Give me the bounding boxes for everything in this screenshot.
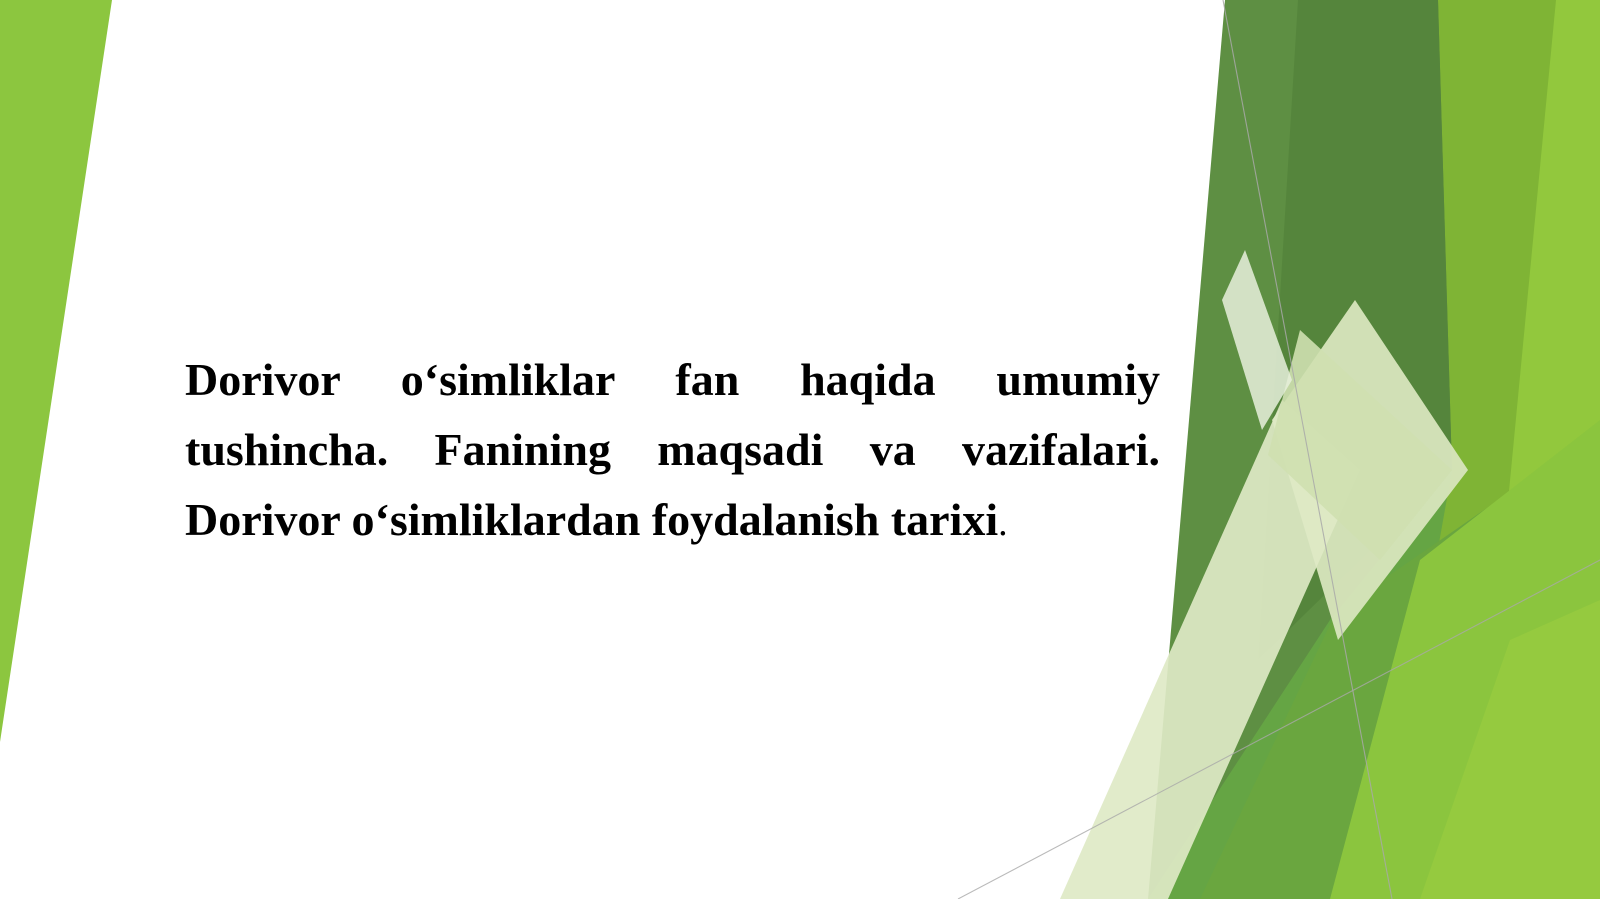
slide-content-area: Dorivor o‘simliklar fan haqida umumiy tu… — [0, 0, 1600, 899]
slide-body-text-terminator: . — [998, 502, 1008, 544]
slide-body-text-main: Dorivor o‘simliklar fan haqida umumiy tu… — [185, 354, 1160, 545]
presentation-slide: Dorivor o‘simliklar fan haqida umumiy tu… — [0, 0, 1600, 899]
slide-body-text: Dorivor o‘simliklar fan haqida umumiy tu… — [185, 345, 1160, 558]
